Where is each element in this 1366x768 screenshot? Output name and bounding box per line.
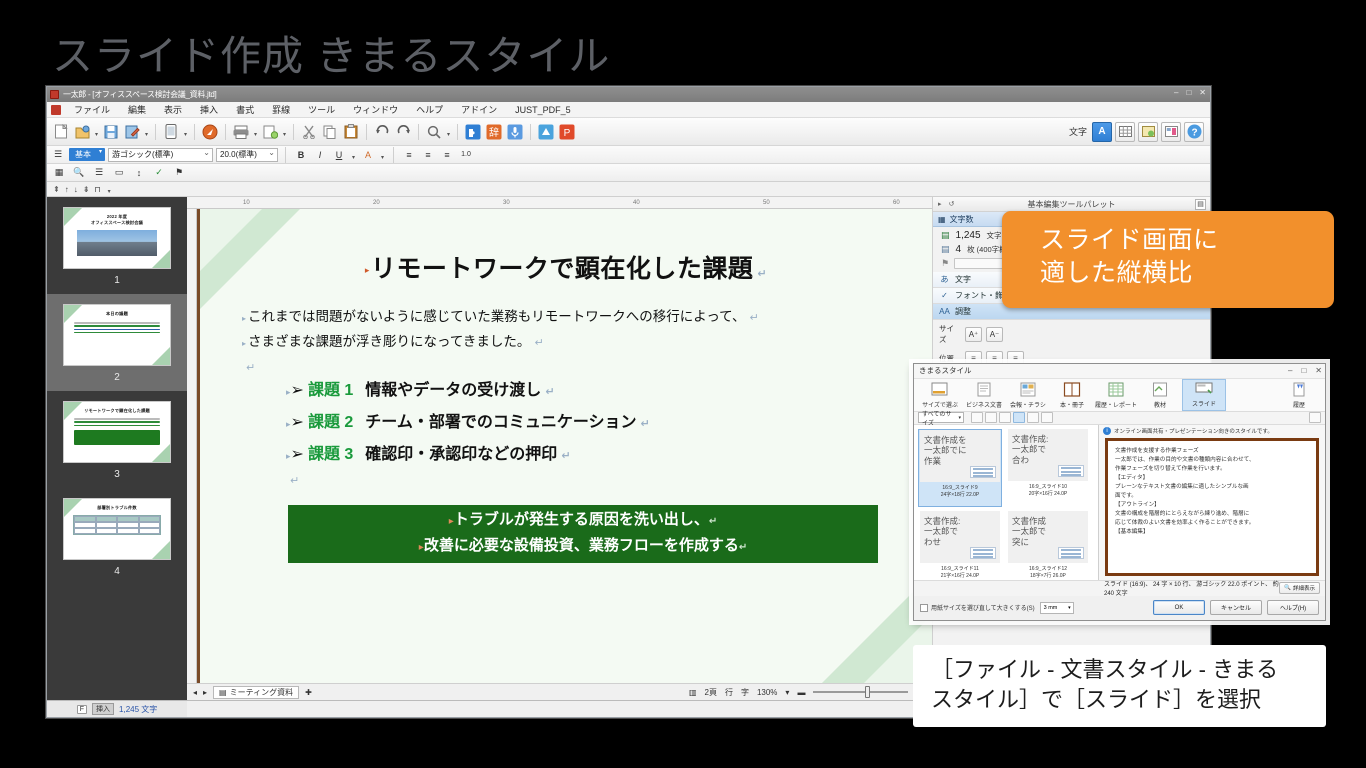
zoom-dropdown-icon[interactable]: ▾ — [785, 688, 789, 697]
menu-item-insert[interactable]: 挿入 — [191, 102, 227, 117]
pilcrow-icon: ↵ — [709, 516, 717, 527]
dialog-tab-label: 会報・チラシ — [1010, 400, 1046, 409]
pilcrow-icon: ↵ — [750, 312, 759, 324]
dialog-tab-history[interactable]: 履歴 — [1277, 379, 1321, 411]
preview-line: 応じて体裁のよい文書を効率よく作ることができます。 — [1115, 519, 1309, 528]
corner-decoration-icon — [64, 208, 82, 226]
menu-item-ruled[interactable]: 罫線 — [263, 102, 299, 117]
slide-issue-list: ▸➢課題 1情報やデータの受け渡し↵ ▸➢課題 2チーム・部署でのコミュニケーシ… — [242, 375, 890, 487]
align-left-button[interactable]: ≡ — [401, 147, 417, 162]
dialog-minimize-icon[interactable]: – — [1288, 366, 1292, 375]
preview-line: 【エディタ】 — [1115, 474, 1309, 483]
callout-aspect-line-2: 適した縦横比 — [1040, 257, 1334, 290]
arrow-icon: ➢ — [291, 414, 304, 431]
callout-aspect-line-1: スライド画面に — [1040, 224, 1334, 257]
ruler-tick: 60 — [893, 200, 900, 206]
style-preview: 文書作成: 一太郎で 合わ — [1008, 429, 1088, 481]
style-card[interactable]: 文書作成 一太郎で 突に 16:9_スライド12 18字×7行 26.0P — [1006, 511, 1090, 580]
spacer: ↵ — [286, 471, 890, 487]
toolbar-right-cluster[interactable]: 文字 A ? — [1069, 122, 1204, 142]
copy-icon[interactable] — [320, 122, 340, 142]
bullet-icon: ▸ — [365, 265, 370, 275]
menu-item-tools[interactable]: ツール — [299, 102, 344, 117]
thumbnail-slide-1[interactable]: 2022 年度 オフィススペース検討会議 1 — [47, 197, 187, 294]
grid-icon[interactable]: ▦ — [51, 165, 67, 180]
bold-button[interactable]: B — [293, 147, 309, 162]
preview-line: 文書作成を支援する作業フェーズ — [1115, 447, 1309, 456]
font-size-select[interactable]: 20.0(標準) — [216, 148, 278, 162]
increase-size-button[interactable]: A⁺ — [965, 327, 982, 342]
align-bottom-icon[interactable]: ⇟ — [83, 185, 90, 194]
app-titlebar-text: 一太郎 - [オフィススペース検討会議_資料.jtd] — [63, 89, 216, 100]
slide-lead: ▸これまでは問題がないように感じていた業務もリモートワークへの移行によって、↵ … — [242, 305, 890, 359]
toolbar-separator — [285, 147, 286, 163]
zoom-level[interactable]: 130% — [757, 688, 777, 697]
thumbnail-table — [73, 515, 161, 535]
style-preview-line: 文書作成を — [924, 435, 997, 446]
thumbnail-line — [74, 421, 160, 423]
issue-text: 確認印・承認印などの押印 — [365, 446, 557, 463]
undo-icon[interactable] — [372, 122, 392, 142]
zoom-tool-icon[interactable]: 🔍 — [71, 165, 87, 180]
new-document-icon[interactable] — [51, 122, 71, 142]
column-view-icon[interactable] — [1027, 412, 1039, 423]
wide-view-icon[interactable] — [999, 412, 1011, 423]
resize-paper-checkbox[interactable]: 用紙サイズを選び直して大きくする(S) — [920, 603, 1035, 612]
style-preview-line: 文書作成: — [1012, 434, 1085, 445]
document-icon — [974, 382, 994, 398]
ruler-tick: 40 — [633, 200, 640, 206]
underline-button[interactable]: U — [331, 147, 347, 162]
next-tab-icon[interactable]: ▸ — [203, 688, 207, 697]
bullet-icon: ▸ — [242, 339, 246, 348]
thumbnail-line — [74, 322, 160, 324]
pilcrow-icon: ↵ — [739, 542, 747, 553]
page-title: スライド作成 きまるスタイル — [52, 22, 610, 82]
thumbnail-preview: 部署別トラブル件数 — [63, 498, 171, 560]
report-icon — [1106, 382, 1126, 398]
landscape-view-icon[interactable] — [985, 412, 997, 423]
window-controls[interactable]: – □ ✕ — [1174, 88, 1206, 97]
corner-decoration-icon — [152, 347, 170, 365]
style-preview-block — [970, 547, 996, 559]
thumbnail-number: 1 — [114, 275, 120, 286]
toolbar-separator — [155, 124, 156, 140]
sheet-tab-label: ミーティング資料 — [230, 687, 294, 698]
thumbnail-line — [74, 329, 160, 331]
print-preview-dropdown-icon[interactable]: ▾ — [281, 122, 288, 142]
char-count-value: 1,245 — [956, 230, 981, 241]
tertiary-toolbar[interactable]: ⇞ ↑ ↓ ⇟ ⊓ ▾ — [47, 182, 1210, 197]
dialog-title-text: きまるスタイル — [919, 365, 972, 376]
indent-icon[interactable]: ⊓ — [94, 185, 100, 194]
menu-item-view[interactable]: 表示 — [155, 102, 191, 117]
menu-item-addin[interactable]: アドイン — [452, 102, 506, 117]
highlight-text: 改善に必要な設備投資、業務フローを作成する — [424, 537, 739, 554]
list-icon[interactable]: ☰ — [91, 165, 107, 180]
paragraph-style-select[interactable]: 基本 — [69, 148, 105, 161]
save-as-icon[interactable] — [122, 122, 142, 142]
svg-text:辞: 辞 — [489, 126, 499, 139]
dialog-window-controls[interactable]: – □ ✕ — [1288, 366, 1322, 375]
close-icon[interactable]: ✕ — [1199, 88, 1206, 97]
style-spec: 24字×18行 22.0P — [941, 491, 980, 498]
detail-view-label: 詳細表示 — [1293, 584, 1315, 592]
preview-line: 文書の構成を階層的にとらえながら練り進め、階層に — [1115, 510, 1309, 519]
cancel-button[interactable]: キャンセル — [1210, 600, 1262, 615]
style-list[interactable]: 文書作成を 一太郎でに 作業 16:9_スライド9 24字×18行 22.0P … — [914, 425, 1099, 580]
dialog-tab-flyer[interactable]: 会報・チラシ — [1006, 379, 1050, 411]
issue-key: 課題 2 — [308, 414, 353, 431]
bullet-icon: ▸ — [286, 387, 291, 397]
style-card[interactable]: 文書作成を 一太郎でに 作業 16:9_スライド9 24字×18行 22.0P — [918, 429, 1002, 507]
callout-menu-path-line-2: スタイル］で［スライド］を選択 — [931, 685, 1326, 715]
decrease-size-button[interactable]: A⁻ — [986, 327, 1003, 342]
style-name: 16:9_スライド12 — [1029, 565, 1067, 572]
highlight-text: トラブルが発生する原因を洗い出し、 — [454, 511, 709, 528]
dialog-tab-label: 履歴 — [1293, 400, 1305, 409]
move-down-icon[interactable]: ↓ — [74, 185, 78, 194]
atok-icon[interactable] — [536, 122, 556, 142]
sheet-tab-area[interactable]: ◂ ▸ ▤ ミーティング資料 ✚ — [187, 686, 689, 699]
print-dropdown-icon[interactable]: ▾ — [252, 122, 259, 142]
view-mode-icons[interactable] — [971, 412, 1053, 423]
info-icon: i — [1103, 427, 1111, 435]
dialog-tab-size[interactable]: サイズで選ぶ — [918, 379, 962, 411]
save-as-dropdown-icon[interactable]: ▾ — [143, 122, 150, 142]
main-toolbar[interactable]: ▾ ▾ ▾ ▾ ▾ — [47, 118, 1210, 146]
style-spec: 20字×16行 24.0P — [1029, 490, 1068, 497]
style-preview-pane: i オンライン画面共有・プレゼンテーション向きのスタイルです。 文書作成を支援す… — [1099, 425, 1325, 580]
highlight-button[interactable]: A — [360, 147, 376, 162]
adjust-icon: AA — [939, 307, 950, 316]
paste-icon[interactable] — [341, 122, 361, 142]
highlight-line-1: ▸トラブルが発生する原因を洗い出し、↵ — [288, 507, 878, 533]
toolbar-separator — [418, 124, 419, 140]
style-preview: 文書作成を 一太郎でに 作業 — [920, 430, 1000, 482]
dialog-tab-label: 教材 — [1154, 400, 1166, 409]
slide-title: ▸リモートワークで顕在化した課題↵ — [242, 249, 890, 285]
issue-key: 課題 1 — [308, 382, 353, 399]
dialog-tab-slide[interactable]: スライド — [1182, 379, 1226, 411]
status-left: F 挿入 1,245 文字 — [47, 701, 187, 717]
size-label: サイズ — [939, 323, 961, 345]
thumbnail-line — [74, 325, 160, 327]
page-view-icon[interactable]: ▥ — [689, 688, 697, 697]
underline-dropdown-icon[interactable]: ▾ — [350, 145, 357, 165]
slide-lead-text: これまでは問題がないように感じていた業務もリモートワークへの移行によって、 — [248, 309, 745, 324]
bullet-icon: ▸ — [286, 419, 291, 429]
toolbar-separator — [457, 124, 458, 140]
size-control-row[interactable]: サイズ A⁺ A⁻ — [933, 320, 1210, 348]
thumbnail-preview: リモートワークで顕在化した課題 — [63, 401, 171, 463]
style-list-icon[interactable]: ☰ — [50, 147, 66, 162]
svg-text:?: ? — [1191, 128, 1197, 139]
check-icon[interactable]: ✓ — [151, 165, 167, 180]
app-titlebar: 一太郎 - [オフィススペース検討会議_資料.jtd] – □ ✕ — [47, 87, 1210, 102]
print-preview-icon[interactable] — [260, 122, 280, 142]
palette-collapse-button[interactable]: ▤ — [1195, 199, 1206, 210]
dialog-close-icon[interactable]: ✕ — [1315, 366, 1322, 375]
pointer-icon[interactable]: ↕ — [131, 165, 147, 180]
dialog-tab-teaching[interactable]: 教材 — [1138, 379, 1182, 411]
menu-item-edit[interactable]: 編集 — [119, 102, 155, 117]
italic-button[interactable]: I — [312, 147, 328, 162]
microphone-icon[interactable] — [505, 122, 525, 142]
flag-icon: ⚑ — [941, 258, 949, 269]
corner-decoration-icon — [152, 444, 170, 462]
align-center-button[interactable]: ≡ — [420, 147, 436, 162]
style-preview-block — [970, 466, 996, 478]
arrow-icon: ➢ — [291, 446, 304, 463]
list-item: ▸➢課題 1情報やデータの受け渡し↵ — [286, 375, 890, 407]
dialog-tab-book[interactable]: 本・冊子 — [1050, 379, 1094, 411]
slide-thumbnail-pane[interactable]: 2022 年度 オフィススペース検討会議 1 本日の議題 2 — [47, 197, 187, 700]
menu-item-help[interactable]: ヘルプ — [407, 102, 452, 117]
dialog-maximize-icon[interactable]: □ — [1301, 366, 1306, 375]
dialog-tab-label: 本・冊子 — [1060, 400, 1084, 409]
table-mode-button[interactable] — [1115, 122, 1135, 142]
maximize-icon[interactable]: □ — [1186, 88, 1191, 97]
style-preview-line: 文書作成 — [1012, 516, 1085, 527]
status-char-count: 1,245 文字 — [119, 704, 157, 715]
palette-nav-icons[interactable]: ▸↺ — [938, 200, 954, 208]
zoom-out-icon[interactable]: ▬ — [797, 688, 805, 697]
hiragana-icon: あ — [939, 274, 950, 285]
format-toolbar[interactable]: ☰ 基本 游ゴシック(標準) 20.0(標準) B I U ▾ A ▾ ≡ ≡ … — [47, 146, 1210, 164]
thumbnail-green-box — [74, 430, 160, 445]
dialog-tab-label: サイズで選ぶ — [922, 400, 958, 409]
thumbnail-number: 4 — [114, 566, 120, 577]
menu-bar[interactable]: ファイル 編集 表示 挿入 書式 罫線 ツール ウィンドウ ヘルプ アドイン J… — [47, 102, 1210, 118]
print-icon[interactable] — [231, 122, 251, 142]
zoom-slider[interactable] — [813, 691, 908, 693]
minimize-icon[interactable]: – — [1174, 88, 1178, 97]
list-view-icon[interactable] — [1041, 412, 1053, 423]
style-preview-line: 一太郎で — [924, 526, 997, 537]
palette-header-title: 基本編集ツールパレット — [1028, 199, 1116, 210]
shape-icon[interactable]: ▭ — [111, 165, 127, 180]
dialog-footer[interactable]: 用紙サイズを選び直して大きくする(S) 3 mm OK キャンセル ヘルプ(H) — [914, 596, 1325, 620]
preview-note-text: オンライン画面共有・プレゼンテーション向きのスタイルです。 — [1114, 427, 1273, 435]
style-preview-line: 文書作成: — [924, 516, 997, 527]
checkbox-box[interactable] — [920, 604, 928, 612]
portrait-view-icon[interactable] — [971, 412, 983, 423]
flag-icon[interactable]: ⚑ — [171, 165, 187, 180]
arrow-icon: ➢ — [291, 382, 304, 399]
status-right[interactable]: ▥ 2頁 行 字 130% ▾ ▬ ▣ — [689, 687, 932, 698]
indent-dropdown-icon[interactable]: ▾ — [106, 179, 113, 199]
preview-line: 作業フェーズを切り替えて作業を行います。 — [1115, 465, 1309, 474]
open-file-dropdown-icon[interactable]: ▾ — [93, 122, 100, 142]
style-spec: 21字×16行 24.0P — [941, 572, 980, 579]
dialog-status-text: スライド (16:9)、 24 字 × 10 行、 游ゴシック 22.0 ポイン… — [1104, 579, 1279, 597]
menu-item-format[interactable]: 書式 — [227, 102, 263, 117]
bullet-icon: ▸ — [242, 314, 246, 323]
thumbnail-preview: 本日の議題 — [63, 304, 171, 366]
chart-mode-button[interactable] — [1161, 122, 1181, 142]
preview-document: 文書作成を支援する作業フェーズ 一太郎では、作業の目的や文書の種類内容に合わせて… — [1105, 438, 1319, 576]
preview-toggle-icon[interactable] — [1309, 412, 1321, 423]
image-mode-button[interactable] — [1138, 122, 1158, 142]
line-spacing-button[interactable]: 1.0 — [458, 147, 474, 162]
thumbnail-line — [74, 425, 160, 427]
dialog-filter-bar[interactable]: すべてのサイズ — [914, 412, 1325, 425]
ok-button[interactable]: OK — [1153, 600, 1205, 615]
corner-decoration-icon — [152, 541, 170, 559]
thumbnail-number: 2 — [114, 372, 120, 383]
slide-highlight-box: ▸トラブルが発生する原因を洗い出し、↵ ▸改善に必要な設備投資、業務フローを作成… — [288, 505, 878, 564]
history-icon — [1289, 382, 1309, 398]
pilcrow-icon: ↵ — [246, 362, 255, 374]
resize-paper-label: 用紙サイズを選び直して大きくする(S) — [931, 603, 1035, 612]
align-right-button[interactable]: ≡ — [439, 147, 455, 162]
menu-item-justpdf[interactable]: JUST_PDF_5 — [506, 104, 580, 116]
save-icon[interactable] — [101, 122, 121, 142]
palette-row-label: 調整 — [955, 306, 971, 317]
highlight-dropdown-icon[interactable]: ▾ — [379, 145, 386, 165]
palette-header: ▸↺ 基本編集ツールパレット ▤ — [933, 197, 1210, 212]
kimaru-style-dialog[interactable]: きまるスタイル – □ ✕ サイズで選ぶ ビジネス文書 会報・チラシ 本・冊子 … — [913, 363, 1326, 621]
preview-note: i オンライン画面共有・プレゼンテーション向きのスタイルです。 — [1099, 425, 1325, 438]
spacer: ↵ — [242, 355, 890, 359]
page-count-row-icon: ▤ — [941, 244, 950, 255]
thumbnail-slide-3[interactable]: リモートワークで顕在化した課題 3 — [47, 391, 187, 488]
thumbnail-preview: 2022 年度 オフィススペース検討会議 — [63, 207, 171, 269]
corner-decoration-icon — [152, 250, 170, 268]
preview-line: 【基本編集】 — [1115, 528, 1309, 537]
callout-aspect-ratio: スライド画面に 適した縦横比 — [1002, 211, 1334, 308]
prev-tab-icon[interactable]: ◂ — [193, 688, 197, 697]
margin-select[interactable]: 3 mm — [1040, 602, 1074, 614]
cut-icon[interactable] — [299, 122, 319, 142]
canvas-wrapper: ▸リモートワークで顕在化した課題↵ ▸これまでは問題がないように感じていた業務も… — [187, 209, 932, 683]
size-filter-select[interactable]: すべてのサイズ — [918, 412, 964, 423]
preview-line: 一太郎では、作業の目的や文書の種類内容に合わせて、 — [1115, 456, 1309, 465]
toolbar-separator — [293, 124, 294, 140]
help-button[interactable]: ? — [1184, 122, 1204, 142]
style-preview: 文書作成: 一太郎で わせ — [920, 511, 1000, 563]
mobile-preview-icon[interactable] — [161, 122, 181, 142]
char-indicator: 字 — [741, 687, 749, 698]
menu-item-file[interactable]: ファイル — [65, 102, 119, 117]
pilcrow-icon: ↵ — [534, 337, 543, 349]
search-dropdown-icon[interactable]: ▾ — [445, 122, 452, 142]
sheet-icon: ▤ — [219, 688, 227, 697]
help-button[interactable]: ヘルプ(H) — [1267, 600, 1319, 615]
grid-view-icon[interactable] — [1013, 412, 1025, 423]
align-top-icon[interactable]: ⇞ — [53, 185, 60, 194]
thumbnail-slide-2[interactable]: 本日の議題 2 — [47, 294, 187, 391]
document-status-bar[interactable]: ◂ ▸ ▤ ミーティング資料 ✚ ▥ 2頁 行 字 130% ▾ ▬ — [187, 683, 932, 700]
refresh-icon[interactable]: ↺ — [949, 200, 955, 208]
thumbnail-line — [74, 418, 160, 420]
style-card[interactable]: 文書作成: 一太郎で わせ 16:9_スライド11 21字×16行 24.0P — [918, 511, 1002, 580]
style-name: 16:9_スライド11 — [941, 565, 979, 572]
vertical-ruler[interactable] — [187, 209, 197, 683]
move-up-icon[interactable]: ↑ — [65, 185, 69, 194]
callout-menu-path-line-1: ［ファイル - 文書スタイル - きまる — [931, 655, 1326, 685]
slide-page[interactable]: ▸リモートワークで顕在化した課題↵ ▸これまでは問題がないように感じていた業務も… — [197, 209, 932, 683]
dictionary-icon[interactable]: 辞 — [484, 122, 504, 142]
thumbnail-slide-4[interactable]: 部署別トラブル件数 4 — [47, 488, 187, 585]
list-item: ▸➢課題 3確認印・承認印などの押印↵ — [286, 439, 890, 471]
style-preview-line: 一太郎で — [1012, 526, 1085, 537]
style-name: 16:9_スライド9 — [942, 484, 977, 491]
toolbar-separator — [530, 124, 531, 140]
dialog-titlebar: きまるスタイル – □ ✕ — [914, 364, 1325, 379]
dialog-buttons[interactable]: OK キャンセル ヘルプ(H) — [1153, 600, 1319, 615]
sheet-tab[interactable]: ▤ ミーティング資料 — [213, 686, 299, 699]
mobile-preview-dropdown-icon[interactable]: ▾ — [182, 122, 189, 142]
thumbnail-number: 3 — [114, 469, 120, 480]
text-mode-button[interactable]: A — [1092, 122, 1112, 142]
ruler-icon — [930, 382, 950, 398]
slide-content[interactable]: ▸リモートワークで顕在化した課題↵ ▸これまでは問題がないように感じていた業務も… — [200, 209, 932, 563]
open-file-icon[interactable] — [72, 122, 92, 142]
add-sheet-icon[interactable]: ✚ — [305, 688, 312, 697]
style-preview-line: 一太郎で — [1012, 444, 1085, 455]
redo-icon[interactable] — [393, 122, 413, 142]
dialog-tab-bar[interactable]: サイズで選ぶ ビジネス文書 会報・チラシ 本・冊子 履歴・レポート 教材 スライ… — [914, 379, 1325, 412]
puzzle-icon[interactable] — [463, 122, 483, 142]
menu-item-window[interactable]: ウィンドウ — [344, 102, 407, 117]
pilcrow-icon: ↵ — [561, 450, 570, 462]
ruler-tick: 10 — [243, 200, 250, 206]
line-indicator: 行 — [725, 687, 733, 698]
page-indicator: 2頁 — [705, 687, 717, 698]
toolbar-separator — [393, 147, 394, 163]
navigator-icon[interactable] — [200, 122, 220, 142]
dialog-tab-report[interactable]: 履歴・レポート — [1094, 379, 1138, 411]
char-count-row-icon: ▤ — [941, 230, 950, 241]
style-card[interactable]: 文書作成: 一太郎で 合わ 16:9_スライド10 20字×16行 24.0P — [1006, 429, 1090, 507]
issue-key: 課題 3 — [308, 446, 353, 463]
search-icon[interactable] — [424, 122, 444, 142]
slide-lead-line-2: ▸さまざまな課題が浮き彫りになってきました。↵ — [242, 330, 890, 355]
toolbar-separator — [225, 124, 226, 140]
font-family-select[interactable]: 游ゴシック(標準) — [108, 148, 213, 162]
insert-mode-indicator[interactable]: 挿入 — [92, 703, 114, 715]
preview-line: 【アウトライン】 — [1115, 501, 1309, 510]
function-key-indicator[interactable]: F — [77, 705, 87, 714]
dialog-main: 文書作成を 一太郎でに 作業 16:9_スライド9 24字×18行 22.0P … — [914, 425, 1325, 580]
zoom-slider-knob[interactable] — [865, 686, 870, 698]
svg-text:P: P — [564, 128, 571, 139]
bullet-icon: ▸ — [286, 451, 291, 461]
moji-label: 文字 — [1069, 125, 1087, 138]
dialog-tab-label: ビジネス文書 — [966, 400, 1002, 409]
pilcrow-icon: ↵ — [641, 418, 650, 430]
document-area: 10 20 30 40 50 60 ▸リモートワークで顕在化した課題↵ — [187, 197, 932, 700]
secondary-toolbar[interactable]: ▦ 🔍 ☰ ▭ ↕ ✓ ⚑ — [47, 164, 1210, 182]
detail-view-button[interactable]: 🔍 詳細表示 — [1279, 582, 1320, 594]
teaching-icon — [1150, 382, 1170, 398]
preview-line: プレーンなテキスト文書の編集に適したシンプルな画 — [1115, 483, 1309, 492]
chevron-right-icon[interactable]: ▸ — [938, 200, 942, 208]
style-preview: 文書作成 一太郎で 突に — [1008, 511, 1088, 563]
corner-decoration-icon — [64, 499, 82, 517]
dialog-tab-business[interactable]: ビジネス文書 — [962, 379, 1006, 411]
pdf-icon[interactable]: P — [557, 122, 577, 142]
slide-lead-text: さまざまな課題が浮き彫りになってきました。 — [248, 334, 530, 349]
style-spec: 18字×7行 26.0P — [1030, 572, 1066, 579]
palette-row-label: 文字 — [955, 274, 971, 285]
style-preview-line: 一太郎でに — [924, 445, 997, 456]
style-preview-block — [1058, 547, 1084, 559]
horizontal-ruler[interactable]: 10 20 30 40 50 60 — [187, 197, 932, 209]
char-count-section-title: 文字数 — [950, 214, 974, 225]
